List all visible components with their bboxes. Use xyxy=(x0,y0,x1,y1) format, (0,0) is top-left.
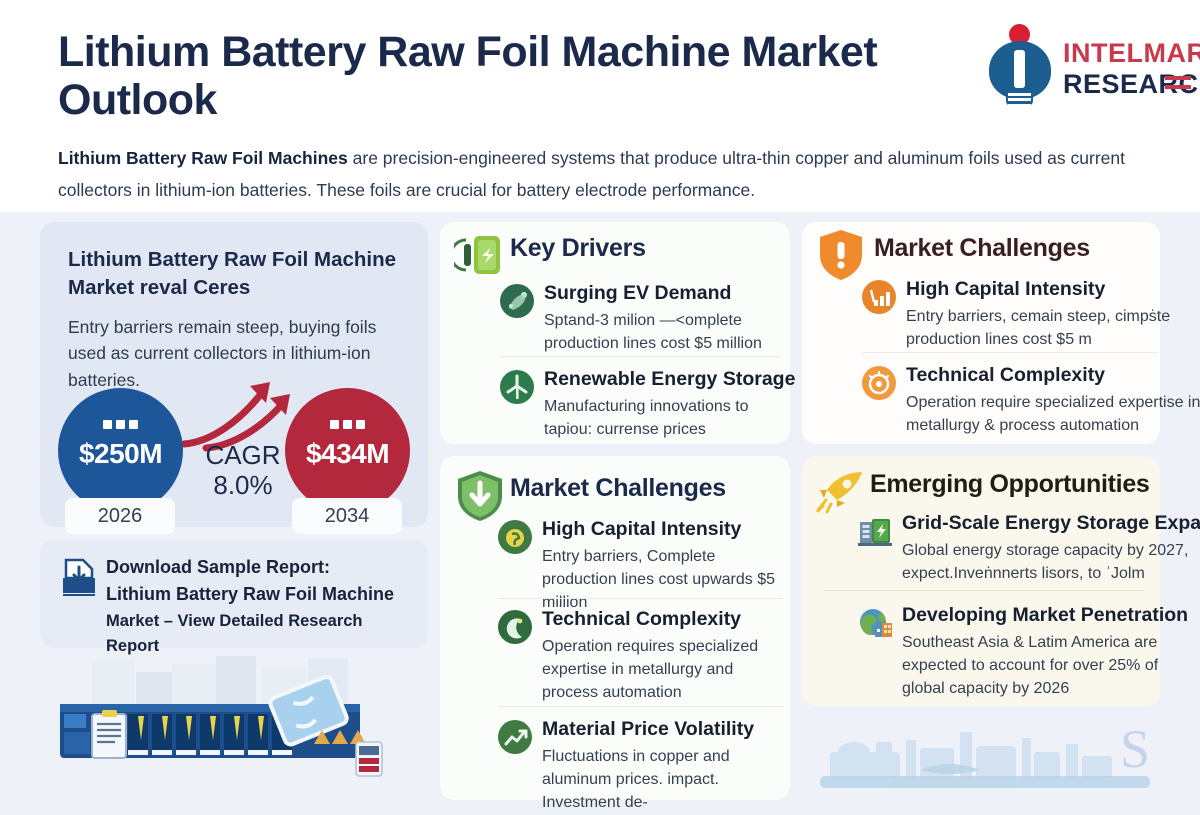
market-size-start-value: $250M xyxy=(58,438,183,470)
cityscape-illustration xyxy=(820,718,1150,790)
challenge-right-text-1: Entry barriers, cemain steep, cimpṡte pr… xyxy=(906,305,1200,351)
page-header: Lithium Battery Raw Foil Machine Market … xyxy=(0,0,1200,212)
download-sample-report-card[interactable]: Download Sample Report: Lithium Battery … xyxy=(40,540,428,648)
market-size-end-year: 2034 xyxy=(292,498,402,534)
key-driver-text-1: Sptand-3 milion —<omplete production lin… xyxy=(544,309,792,355)
challenge-mid-text-2: Operation requires specialized expertise… xyxy=(542,635,792,705)
challenge-mid-heading-1: High Capital Intensity xyxy=(542,518,741,541)
coin-icon xyxy=(498,520,532,554)
challenge-mid-heading-2: Technical Complexity xyxy=(542,608,741,631)
key-driver-heading-1: Surging EV Demand xyxy=(544,282,731,305)
opportunity-text-1: Global energy storage capacity by 2027, … xyxy=(902,539,1200,585)
market-size-heading: Lithium Battery Raw Foil Machine Market … xyxy=(68,246,398,301)
download-line-2: Lithium Battery Raw Foil Machine xyxy=(106,581,418,608)
download-text: Download Sample Report: Lithium Battery … xyxy=(106,554,418,659)
wind-turbine-icon xyxy=(500,370,534,404)
market-size-start-year: 2026 xyxy=(65,498,175,534)
market-challenges-right-card: Market Challenges High Capital Intensity… xyxy=(802,222,1160,444)
download-document-icon xyxy=(62,558,96,596)
market-size-start-circle: $250M xyxy=(58,388,183,513)
market-size-end-value: $434M xyxy=(285,438,410,470)
cagr-block: CAGR 8.0% xyxy=(188,440,298,500)
emerging-opportunities-card: Emerging Opportunities Grid-Scale Energy… xyxy=(802,456,1160,706)
key-driver-text-2: Manufacturing innovations to tapiou: cur… xyxy=(544,395,794,441)
divider xyxy=(498,598,783,599)
download-line-1: Download Sample Report: xyxy=(106,554,418,581)
key-driver-heading-2: Renewable Energy Storage xyxy=(544,368,795,391)
battery-charge-icon xyxy=(454,228,508,282)
trend-up-icon xyxy=(498,720,532,754)
rocket-launch-icon xyxy=(814,468,868,516)
opportunity-heading-2: Developing Market Penetration xyxy=(902,604,1188,627)
key-drivers-card: Key Drivers Surging EV Demand Sptand-3 m… xyxy=(440,222,790,444)
logo-bars-icon xyxy=(1165,76,1191,94)
market-challenges-mid-title: Market Challenges xyxy=(510,474,726,503)
challenge-right-text-2: Operation require specialized expertise … xyxy=(906,391,1200,437)
page-title: Lithium Battery Raw Foil Machine Market … xyxy=(58,28,958,124)
market-size-card: Lithium Battery Raw Foil Machine Market … xyxy=(40,222,428,527)
emerging-opportunities-title: Emerging Opportunities xyxy=(870,470,1150,499)
shield-alert-icon xyxy=(814,224,868,284)
divider xyxy=(500,356,780,357)
moon-icon xyxy=(498,610,532,644)
challenge-mid-heading-3: Material Price Volatility xyxy=(542,718,754,741)
rocket-icon xyxy=(500,284,534,318)
cagr-value: 8.0% xyxy=(188,470,298,500)
challenge-mid-text-3: Fluctuations in copper and aluminum pric… xyxy=(542,745,792,815)
watermark: S xyxy=(1120,718,1150,780)
lightbulb-base-icon xyxy=(1006,90,1033,106)
challenge-right-heading-2: Technical Complexity xyxy=(906,364,1105,387)
subtitle-bold-term: Lithium Battery Raw Foil Machines xyxy=(58,148,348,168)
market-challenges-right-title: Market Challenges xyxy=(874,234,1090,263)
foil-machine-illustration xyxy=(40,652,430,800)
dots-icon xyxy=(285,420,410,429)
divider xyxy=(824,590,1144,591)
shield-down-arrow-icon xyxy=(452,466,508,526)
gauge-icon xyxy=(862,366,896,400)
opportunity-heading-1: Grid-Scale Energy Storage Expansion xyxy=(902,512,1200,535)
logo-line-1: INTELMARKET xyxy=(1063,38,1200,69)
globe-factory-icon xyxy=(858,606,892,640)
market-challenges-mid-card: Market Challenges High Capital Intensity… xyxy=(440,456,790,800)
brand-logo[interactable]: INTELMARKET RESEARCH xyxy=(985,24,1190,108)
dots-icon xyxy=(58,420,183,429)
divider xyxy=(498,706,783,707)
lightbulb-filament-icon xyxy=(1014,50,1025,88)
cagr-label: CAGR xyxy=(188,440,298,470)
bar-chart-icon xyxy=(862,280,896,314)
opportunity-text-2: Southeast Asia & Latim America are expec… xyxy=(902,631,1182,701)
page-subtitle: Lithium Battery Raw Foil Machines are pr… xyxy=(58,142,1148,207)
key-drivers-title: Key Drivers xyxy=(510,234,646,263)
market-size-end-circle: $434M xyxy=(285,388,410,513)
battery-storage-icon xyxy=(858,514,892,548)
divider xyxy=(862,352,1158,353)
challenge-right-heading-1: High Capital Intensity xyxy=(906,278,1105,301)
challenge-mid-text-1: Entry barriers, Complete production line… xyxy=(542,545,792,615)
